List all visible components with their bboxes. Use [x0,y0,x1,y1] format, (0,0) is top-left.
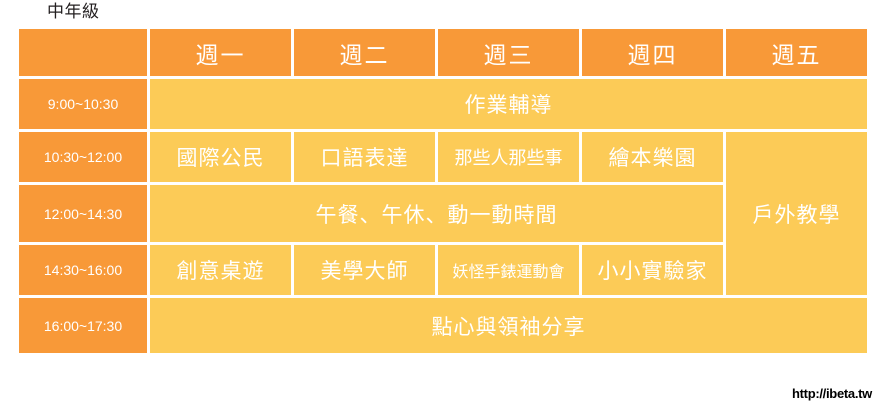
activity-cell: 妖怪手錶運動會 [438,245,579,295]
day-header-thursday: 週四 [582,29,723,76]
activity-cell: 口語表達 [294,132,435,182]
time-slot-1: 9:00~10:30 [19,79,147,129]
day-header-tuesday: 週二 [294,29,435,76]
activity-cell: 國際公民 [150,132,291,182]
schedule-row: 10:30~12:00 國際公民 口語表達 那些人那些事 繪本樂園 戶外教學 [19,132,867,182]
schedule-row: 16:00~17:30 點心與領袖分享 [19,298,867,353]
activity-cell: 作業輔導 [150,79,867,129]
activity-cell: 點心與領袖分享 [150,298,867,353]
time-slot-2: 10:30~12:00 [19,132,147,182]
activity-cell-outdoor: 戶外教學 [726,132,867,295]
activity-cell: 繪本樂園 [582,132,723,182]
activity-cell: 小小實驗家 [582,245,723,295]
activity-cell: 那些人那些事 [438,132,579,182]
activity-cell: 創意桌遊 [150,245,291,295]
schedule-row: 9:00~10:30 作業輔導 [19,79,867,129]
time-slot-4: 14:30~16:00 [19,245,147,295]
day-header-friday: 週五 [726,29,867,76]
watermark-url: http://ibeta.tw [792,386,872,401]
weekly-schedule-table: 週一 週二 週三 週四 週五 9:00~10:30 作業輔導 10:30~12:… [16,26,870,356]
page-title: 中年級 [47,2,100,22]
time-slot-5: 16:00~17:30 [19,298,147,353]
table-header-row: 週一 週二 週三 週四 週五 [19,29,867,76]
schedule-page: 中年級 週一 週二 週三 週四 週五 9:00~10:30 作業輔導 [0,0,876,402]
activity-cell: 美學大師 [294,245,435,295]
day-header-wednesday: 週三 [438,29,579,76]
activity-cell: 午餐、午休、動一動時間 [150,185,723,242]
time-slot-3: 12:00~14:30 [19,185,147,242]
table-corner-cell [19,29,147,76]
day-header-monday: 週一 [150,29,291,76]
